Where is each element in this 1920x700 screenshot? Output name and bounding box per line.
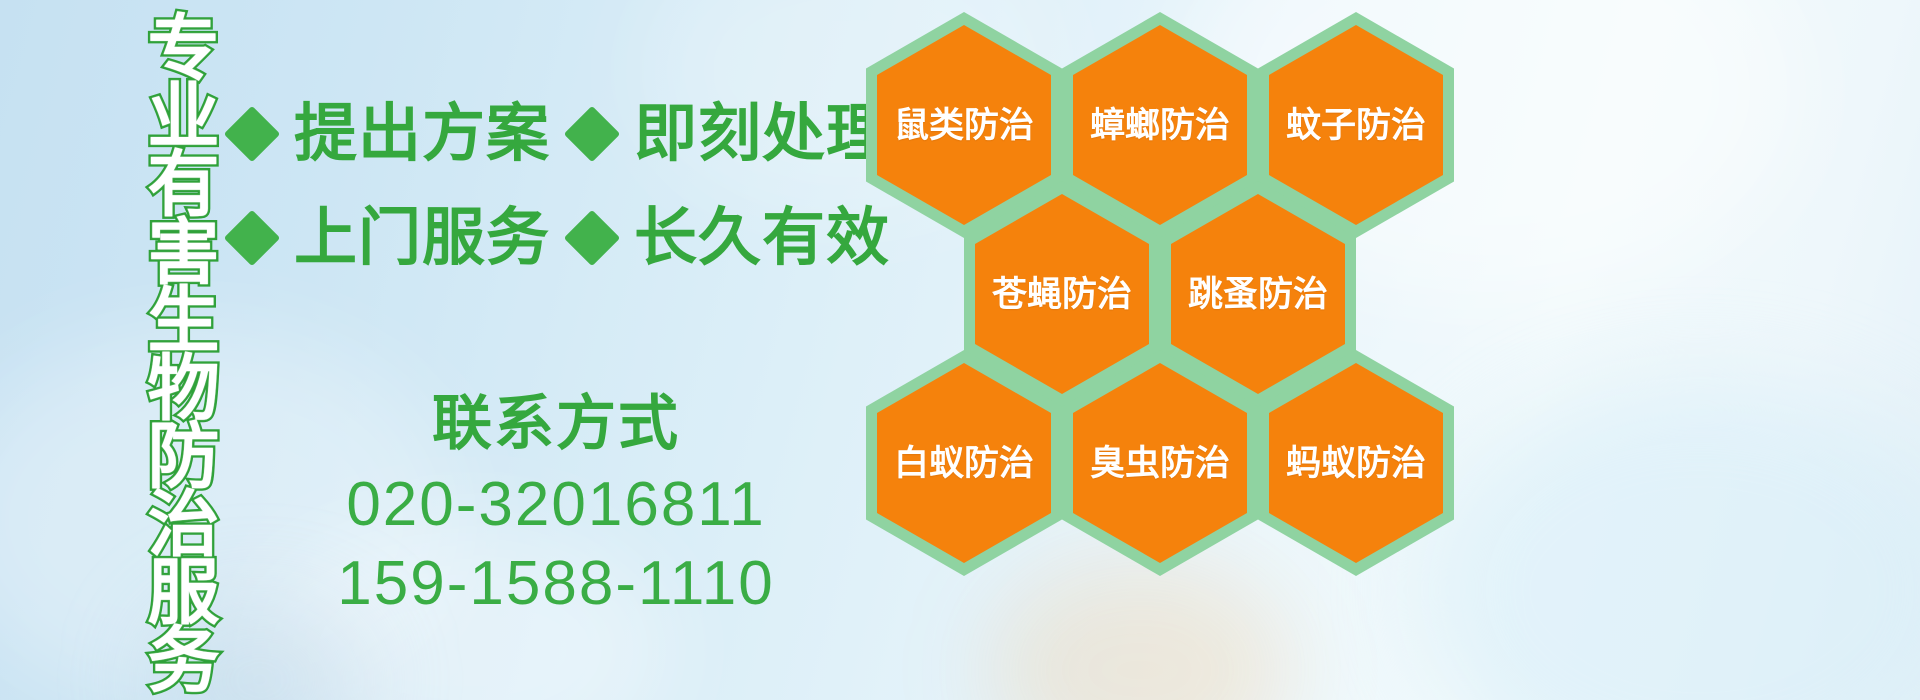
hex-label: 跳蚤防治 bbox=[1188, 277, 1328, 312]
feature-list: 提出方案 即刻处理 上门服务 长久有效 bbox=[232, 82, 872, 290]
hex-label: 鼠类防治 bbox=[894, 108, 1034, 143]
feature-label: 上门服务 bbox=[294, 207, 550, 270]
background-light-blob bbox=[990, 560, 1290, 700]
contact-block: 联系方式 020-32016811 159-1588-1110 bbox=[232, 392, 880, 624]
feature-item-onsite-service: 上门服务 bbox=[232, 207, 550, 270]
hex-label: 蚂蚁防治 bbox=[1286, 446, 1426, 481]
feature-row: 上门服务 长久有效 bbox=[232, 186, 872, 290]
hex-inner: 蚂蚁防治 bbox=[1269, 363, 1443, 563]
diamond-icon bbox=[564, 210, 621, 267]
phone-number-landline[interactable]: 020-32016811 bbox=[232, 465, 880, 544]
hex-label: 苍蝇防治 bbox=[992, 277, 1132, 312]
pest-control-banner: 专业有害生物防治服务 提出方案 即刻处理 上门服务 长久有效 联系方式 bbox=[0, 0, 1920, 700]
feature-label: 提出方案 bbox=[294, 103, 550, 166]
feature-item-propose-plan: 提出方案 bbox=[232, 103, 550, 166]
phone-number-mobile[interactable]: 159-1588-1110 bbox=[232, 544, 880, 623]
diamond-icon bbox=[224, 210, 281, 267]
hex-inner: 跳蚤防治 bbox=[1171, 194, 1345, 394]
service-hexagon-grid: 鼠类防治 蟑螂防治 蚊子防治 苍蝇防治 跳蚤防治 白蚁防治 bbox=[862, 4, 1458, 556]
hex-inner: 臭虫防治 bbox=[1073, 363, 1247, 563]
hex-label: 蟑螂防治 bbox=[1090, 108, 1230, 143]
diamond-icon bbox=[564, 106, 621, 163]
feature-label: 即刻处理 bbox=[634, 103, 890, 166]
hex-inner: 蚊子防治 bbox=[1269, 25, 1443, 225]
hex-inner: 蟑螂防治 bbox=[1073, 25, 1247, 225]
feature-label: 长久有效 bbox=[634, 207, 890, 270]
hex-label: 白蚁防治 bbox=[894, 446, 1034, 481]
vertical-headline: 专业有害生物防治服务 bbox=[108, 10, 212, 570]
background-light-blob bbox=[1420, 380, 1920, 700]
diamond-icon bbox=[224, 106, 281, 163]
contact-heading: 联系方式 bbox=[232, 392, 880, 457]
feature-item-long-lasting: 长久有效 bbox=[572, 207, 890, 270]
feature-item-immediate-handling: 即刻处理 bbox=[572, 103, 890, 166]
hex-label: 蚊子防治 bbox=[1286, 108, 1426, 143]
feature-row: 提出方案 即刻处理 bbox=[232, 82, 872, 186]
hex-inner: 鼠类防治 bbox=[877, 25, 1051, 225]
hex-label: 臭虫防治 bbox=[1090, 446, 1230, 481]
hex-inner: 白蚁防治 bbox=[877, 363, 1051, 563]
hex-inner: 苍蝇防治 bbox=[975, 194, 1149, 394]
